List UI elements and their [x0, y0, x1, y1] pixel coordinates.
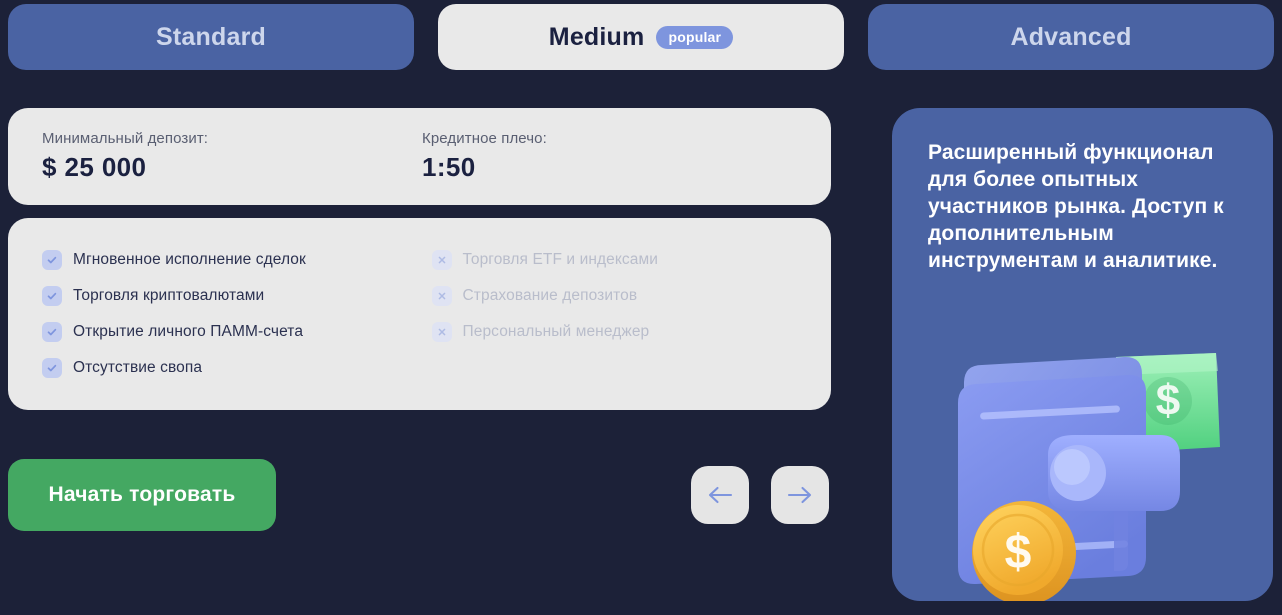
feature-label: Отсутствие свопа [73, 359, 202, 377]
feature-label: Страхование депозитов [463, 287, 638, 305]
stat-leverage-value: 1:50 [422, 152, 547, 183]
carousel-prev-button[interactable] [691, 466, 749, 524]
tab-standard-label: Standard [156, 23, 266, 52]
stat-minimum-deposit-label: Минимальный депозит: [42, 130, 422, 147]
pricing-plans-widget: Standard Medium popular Advanced Минимал… [0, 0, 1282, 615]
feature-label: Торговля ETF и индексами [463, 251, 659, 269]
feature-label: Персональный менеджер [463, 323, 650, 341]
close-icon [432, 322, 452, 342]
plan-features-card: Мгновенное исполнение сделок Торговля кр… [8, 218, 831, 410]
stat-minimum-deposit-value: $ 25 000 [42, 152, 422, 183]
arrow-right-icon [787, 485, 813, 505]
promo-panel: Расширенный функционал для более опытных… [892, 108, 1273, 601]
start-trading-button[interactable]: Начать торговать [8, 459, 276, 531]
feature-item-included: Торговля криптовалютами [42, 278, 422, 314]
tab-medium[interactable]: Medium popular [438, 4, 844, 70]
tab-advanced-label: Advanced [1010, 23, 1131, 52]
tab-medium-label: Medium [549, 23, 645, 52]
actions-row: Начать торговать [8, 459, 831, 531]
feature-item-excluded: Торговля ETF и индексами [432, 242, 802, 278]
feature-label: Открытие личного ПАММ-счета [73, 323, 303, 341]
popular-badge: popular [656, 26, 733, 49]
svg-text:$: $ [1005, 526, 1032, 579]
stat-leverage: Кредитное плечо: 1:50 [422, 130, 547, 183]
plan-stats-card: Минимальный депозит: $ 25 000 Кредитное … [8, 108, 831, 205]
feature-item-excluded: Персональный менеджер [432, 314, 802, 350]
feature-item-included: Отсутствие свопа [42, 350, 422, 386]
check-icon [42, 358, 62, 378]
check-icon [42, 286, 62, 306]
excluded-features-list: Торговля ETF и индексами Страхование деп… [422, 242, 802, 410]
feature-item-included: Открытие личного ПАММ-счета [42, 314, 422, 350]
check-icon [42, 250, 62, 270]
feature-item-excluded: Страхование депозитов [432, 278, 802, 314]
svg-text:$: $ [1156, 376, 1180, 425]
plan-details-column: Минимальный депозит: $ 25 000 Кредитное … [8, 108, 831, 410]
stat-minimum-deposit: Минимальный депозит: $ 25 000 [42, 130, 422, 183]
close-icon [432, 250, 452, 270]
promo-description: Расширенный функционал для более опытных… [928, 140, 1228, 274]
carousel-controls [691, 466, 831, 524]
check-icon [42, 322, 62, 342]
stat-leverage-label: Кредитное плечо: [422, 130, 547, 147]
feature-label: Мгновенное исполнение сделок [73, 251, 306, 269]
arrow-left-icon [707, 485, 733, 505]
plan-tabs: Standard Medium popular Advanced [8, 4, 1274, 70]
feature-label: Торговля криптовалютами [73, 287, 264, 305]
wallet-with-money-icon: $ $ [928, 325, 1228, 601]
tab-standard[interactable]: Standard [8, 4, 414, 70]
carousel-next-button[interactable] [771, 466, 829, 524]
feature-item-included: Мгновенное исполнение сделок [42, 242, 422, 278]
close-icon [432, 286, 452, 306]
tab-advanced[interactable]: Advanced [868, 4, 1274, 70]
included-features-list: Мгновенное исполнение сделок Торговля кр… [42, 242, 422, 410]
